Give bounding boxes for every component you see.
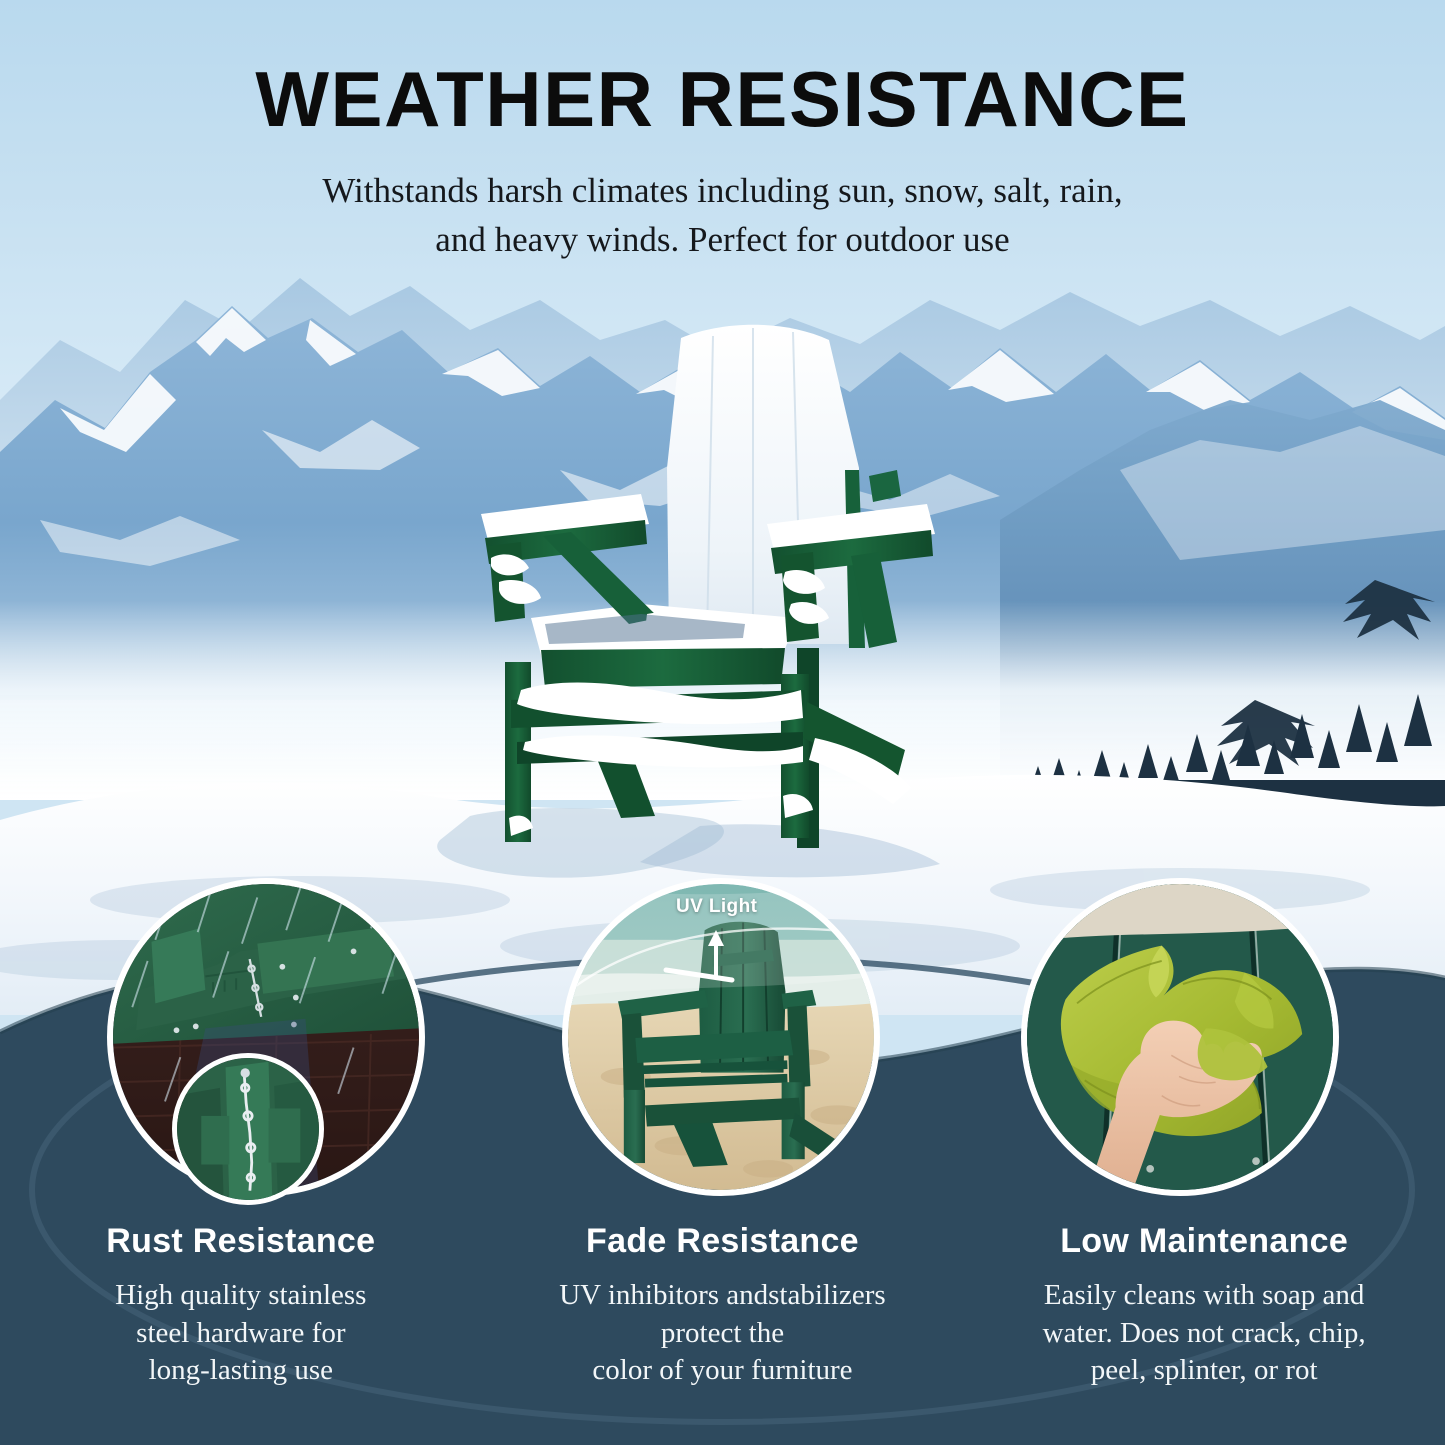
feature-text-columns: Rust Resistance High quality stainless s…: [0, 1222, 1445, 1390]
feature-body-rust-resistance: High quality stainless steel hardware fo…: [26, 1277, 456, 1390]
feature-title-fade-resistance: Fade Resistance: [508, 1222, 938, 1261]
chair-seat: [541, 648, 785, 688]
uv-light-arrow: [660, 918, 780, 998]
hero-chair: [445, 318, 965, 848]
feature-body-low-maintenance: Easily cleans with soap and water. Does …: [989, 1277, 1419, 1390]
header-block: WEATHER RESISTANCE Withstands harsh clim…: [0, 60, 1445, 265]
page-title: WEATHER RESISTANCE: [0, 60, 1445, 140]
chair-back-snow: [667, 325, 859, 644]
chair-right-headrest-tab: [869, 470, 901, 502]
chair-right-arm-support: [781, 552, 819, 642]
feature-column-rust-resistance: Rust Resistance High quality stainless s…: [0, 1222, 482, 1390]
rain-on-chair-hardware-photo: [113, 884, 419, 1190]
hand-wiping-cloth-photo: [1027, 884, 1333, 1190]
snow-covered-adirondack-chair: [445, 318, 965, 848]
feature-column-low-maintenance: Low Maintenance Easily cleans with soap …: [963, 1222, 1445, 1390]
feature-title-rust-resistance: Rust Resistance: [26, 1222, 456, 1261]
weather-resistance-infographic: UV Light WEATHER RESISTANCE Withstands h…: [0, 0, 1445, 1445]
feature-image-low-maintenance[interactable]: [1021, 878, 1339, 1196]
page-subtitle: Withstands harsh climates including sun,…: [0, 166, 1445, 265]
feature-body-fade-resistance: UV inhibitors andstabilizers protect the…: [508, 1277, 938, 1390]
feature-title-low-maintenance: Low Maintenance: [989, 1222, 1419, 1261]
feature-image-rust-resistance[interactable]: [107, 878, 425, 1196]
feature-column-fade-resistance: Fade Resistance UV inhibitors andstabili…: [482, 1222, 964, 1390]
uv-light-label: UV Light: [676, 896, 757, 918]
